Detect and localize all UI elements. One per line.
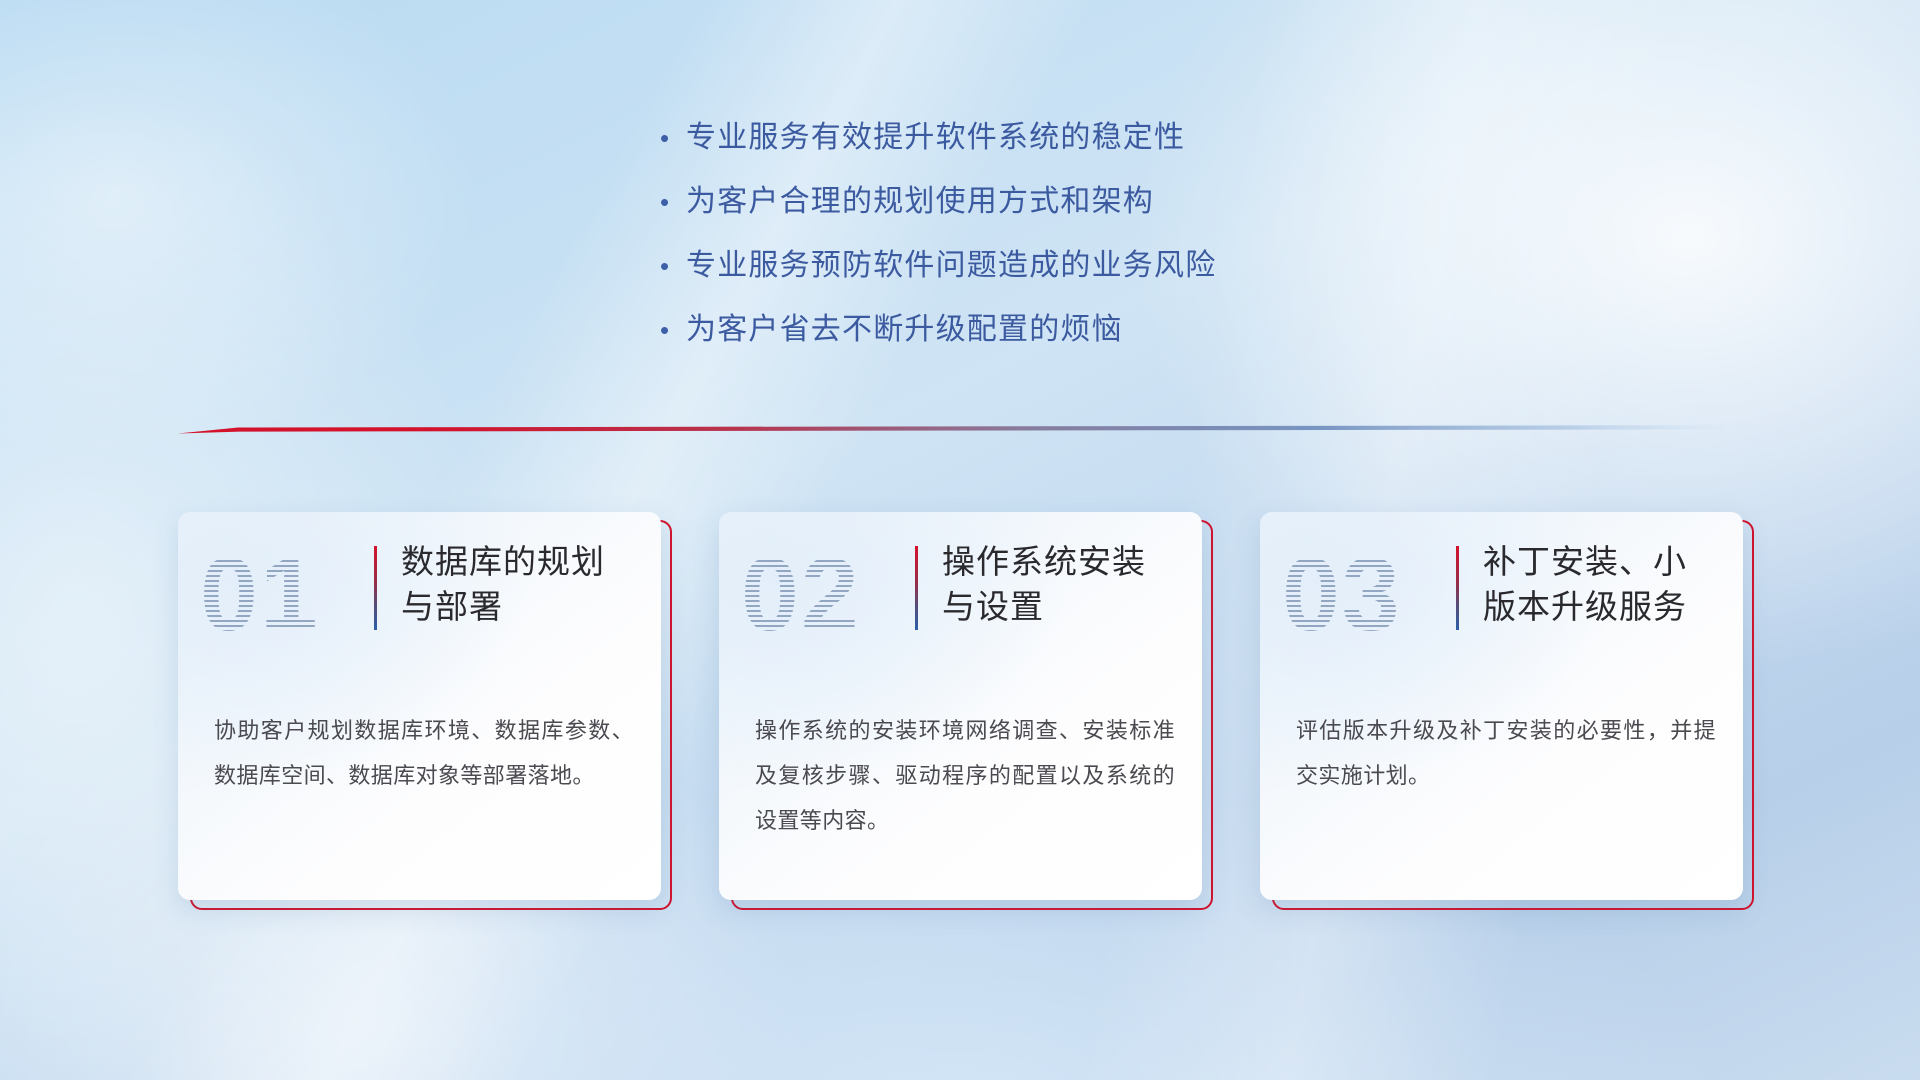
bullet-dot-icon: • xyxy=(660,189,686,215)
title-accent-rule xyxy=(374,546,377,630)
bullet-text: 专业服务预防软件问题造成的业务风险 xyxy=(686,240,1216,284)
card-title: 操作系统安装与设置 xyxy=(942,540,1174,630)
card-title-block: 补丁安装、小版本升级服务 xyxy=(1456,540,1715,630)
card-description: 操作系统的安装环境网络调查、安装标准及复核步骤、驱动程序的配置以及系统的设置等内… xyxy=(755,708,1175,843)
list-item: • 专业服务有效提升软件系统的稳定性 xyxy=(660,112,1216,176)
card-surface: 01 数据库的规划与部署 协助客户规划数据库环境、数据库参数、数据库空间、数据库… xyxy=(178,512,661,900)
benefits-bullet-list: • 专业服务有效提升软件系统的稳定性 • 为客户合理的规划使用方式和架构 • 专… xyxy=(660,112,1216,368)
service-card-list: 01 数据库的规划与部署 协助客户规划数据库环境、数据库参数、数据库空间、数据库… xyxy=(178,512,1743,902)
card-title: 补丁安装、小版本升级服务 xyxy=(1483,540,1715,630)
card-number: 02 xyxy=(741,530,861,660)
card-surface: 02 操作系统安装与设置 操作系统的安装环境网络调查、安装标准及复核步骤、驱动程… xyxy=(719,512,1202,900)
card-title-block: 数据库的规划与部署 xyxy=(374,540,633,630)
bullet-dot-icon: • xyxy=(660,125,686,151)
service-card[interactable]: 03 补丁安装、小版本升级服务 评估版本升级及补丁安装的必要性，并提交实施计划。 xyxy=(1260,512,1743,902)
bullet-text: 为客户省去不断升级配置的烦恼 xyxy=(686,304,1123,348)
card-header: 03 补丁安装、小版本升级服务 xyxy=(1260,512,1743,682)
bullet-text: 为客户合理的规划使用方式和架构 xyxy=(686,176,1154,220)
card-header: 02 操作系统安装与设置 xyxy=(719,512,1202,682)
card-number: 01 xyxy=(200,530,320,660)
card-description: 评估版本升级及补丁安装的必要性，并提交实施计划。 xyxy=(1296,708,1716,798)
slide-canvas: • 专业服务有效提升软件系统的稳定性 • 为客户合理的规划使用方式和架构 • 专… xyxy=(0,0,1920,1080)
service-card[interactable]: 02 操作系统安装与设置 操作系统的安装环境网络调查、安装标准及复核步骤、驱动程… xyxy=(719,512,1202,902)
card-title: 数据库的规划与部署 xyxy=(401,540,633,630)
card-header: 01 数据库的规划与部署 xyxy=(178,512,661,682)
bullet-dot-icon: • xyxy=(660,317,686,343)
list-item: • 为客户合理的规划使用方式和架构 xyxy=(660,176,1216,240)
card-title-block: 操作系统安装与设置 xyxy=(915,540,1174,630)
list-item: • 为客户省去不断升级配置的烦恼 xyxy=(660,304,1216,368)
list-item: • 专业服务预防软件问题造成的业务风险 xyxy=(660,240,1216,304)
title-accent-rule xyxy=(915,546,918,630)
bullet-text: 专业服务有效提升软件系统的稳定性 xyxy=(686,112,1185,156)
service-card[interactable]: 01 数据库的规划与部署 协助客户规划数据库环境、数据库参数、数据库空间、数据库… xyxy=(178,512,661,902)
title-accent-rule xyxy=(1456,546,1459,630)
card-surface: 03 补丁安装、小版本升级服务 评估版本升级及补丁安装的必要性，并提交实施计划。 xyxy=(1260,512,1743,900)
card-number: 03 xyxy=(1282,530,1402,660)
bullet-dot-icon: • xyxy=(660,253,686,279)
section-divider xyxy=(178,418,1723,440)
card-description: 协助客户规划数据库环境、数据库参数、数据库空间、数据库对象等部署落地。 xyxy=(214,708,634,798)
